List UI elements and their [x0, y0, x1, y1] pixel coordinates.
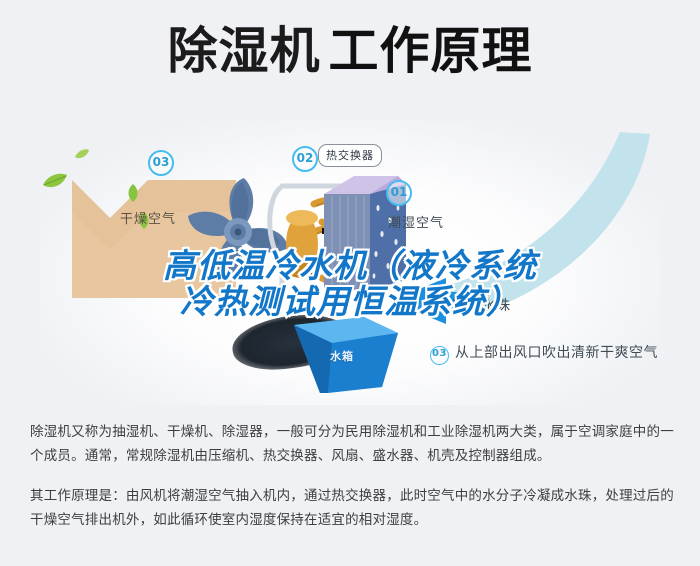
- page-title: 除湿机工作原理: [0, 26, 700, 76]
- body-copy: 除湿机又称为抽湿机、干燥机、除湿器，一般可分为民用除湿机和工业除湿机两大类，属于…: [30, 420, 675, 532]
- caption-dry-air: 干燥空气: [120, 208, 176, 227]
- dehumidifier-diagram: 水箱 01 潮湿空气 02 热交换器 03 干燥空气 冷凝成水珠 03从上部出风…: [0, 120, 700, 405]
- page-root: 除湿机工作原理: [0, 0, 700, 566]
- badge-01: 01: [386, 180, 412, 206]
- leaf-icon: [74, 148, 90, 160]
- heat-exchanger-callout: 热交换器: [318, 144, 382, 167]
- legend-outlet-text: 从上部出风口吹出清新干爽空气: [455, 344, 658, 360]
- legend-outlet: 03从上部出风口吹出清新干爽空气: [430, 342, 658, 365]
- water-tank-label: 水箱: [330, 348, 354, 364]
- badge-03-inline: 03: [430, 346, 449, 365]
- paragraph-principle: 其工作原理是：由风机将潮湿空气抽入机内，通过热交换器，此时空气中的水分子冷凝成水…: [30, 484, 675, 532]
- legend-condense: 冷凝成水珠: [438, 295, 511, 315]
- badge-03: 03: [148, 150, 174, 176]
- page-title-part2: 工作原理: [329, 22, 533, 80]
- caption-humid-air: 潮湿空气: [388, 212, 444, 231]
- leaf-icon: [42, 172, 68, 190]
- leaf-icon: [126, 184, 140, 202]
- badge-02: 02: [292, 146, 318, 172]
- paragraph-definition: 除湿机又称为抽湿机、干燥机、除湿器，一般可分为民用除湿机和工业除湿机两大类，属于…: [30, 420, 675, 468]
- page-title-part1: 除湿机: [168, 22, 321, 80]
